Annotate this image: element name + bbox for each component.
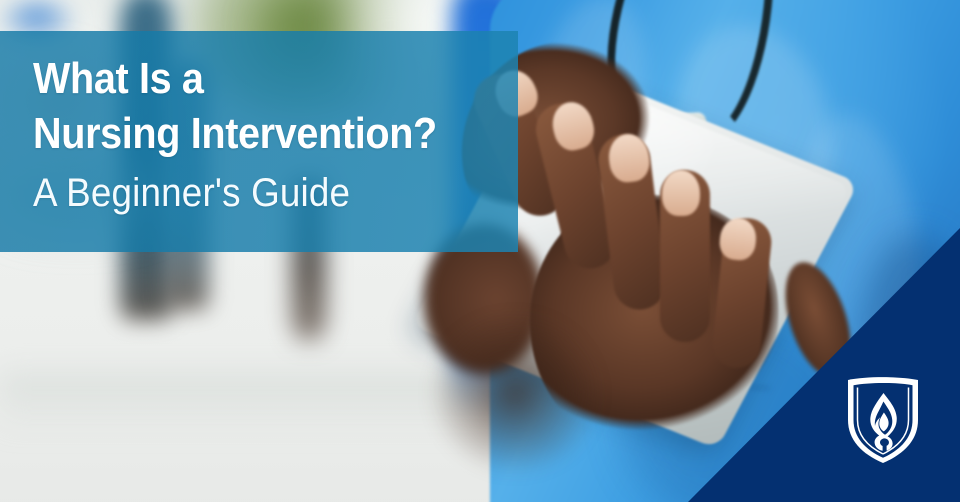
rasmussen-shield-flame-logo[interactable] — [846, 376, 920, 464]
title-overlay-panel: What Is a Nursing Intervention? A Beginn… — [0, 31, 518, 252]
headline-line-2: Nursing Intervention? — [33, 106, 470, 161]
subheadline: A Beginner's Guide — [33, 167, 479, 219]
fingernail — [662, 170, 700, 216]
wrist — [430, 314, 600, 474]
article-hero-banner: What Is a Nursing Intervention? A Beginn… — [0, 0, 960, 502]
headline-line-1: What Is a — [33, 51, 470, 106]
